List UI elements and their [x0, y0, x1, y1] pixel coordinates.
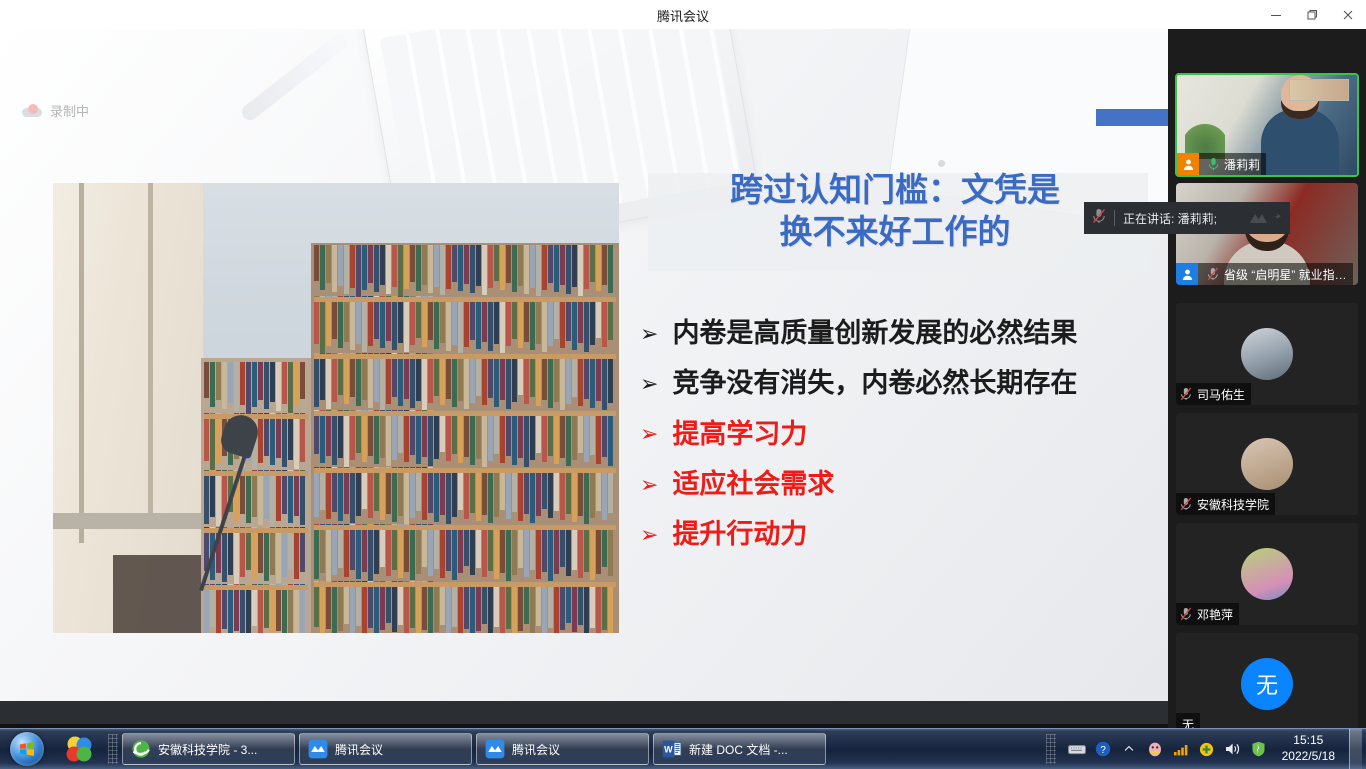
- avatar: 无: [1241, 658, 1293, 710]
- webcam-wall-map: [1289, 79, 1349, 101]
- svg-text:W: W: [664, 745, 673, 755]
- slide-bullet-text: 提高学习力: [672, 420, 807, 448]
- bookshelf-row: [314, 302, 616, 359]
- tencent-meeting-icon: [308, 739, 328, 759]
- taskbar-button[interactable]: 安徽科技学院 - 3...: [122, 733, 295, 765]
- microphone-muted-icon: [1176, 607, 1192, 621]
- bullet-marker-icon: ➢: [640, 422, 658, 445]
- microphone-muted-icon: [1203, 267, 1219, 281]
- slide-bullet: ➢适应社会需求: [640, 470, 1160, 498]
- participant-video-panel[interactable]: 潘莉莉省级 “启明星” 就业指…司马佑生安徽科技学院邓艳萍无无: [1168, 29, 1366, 768]
- slide-title-line2: 换不来好工作的: [660, 211, 1130, 253]
- tray-grip[interactable]: [1046, 734, 1056, 764]
- user-badge-icon: [1176, 263, 1198, 285]
- cloud-record-icon: [22, 104, 42, 117]
- slide-bullet: ➢内卷是高质量创新发展的必然结果: [640, 319, 1160, 347]
- recording-label: 录制中: [50, 101, 89, 120]
- windows-taskbar[interactable]: 安徽科技学院 - 3...腾讯会议腾讯会议W新建 DOC 文档 -... ?: [0, 728, 1366, 769]
- taskbar-button-label: 安徽科技学院 - 3...: [158, 741, 257, 758]
- minimize-icon[interactable]: [1258, 0, 1294, 29]
- recording-indicator: 录制中: [22, 101, 89, 120]
- window-title-bar: 腾讯会议: [0, 0, 1366, 29]
- participant-label: 潘莉莉: [1177, 153, 1266, 175]
- toast-divider: [1114, 210, 1115, 226]
- slide-bullet-text: 适应社会需求: [672, 470, 834, 498]
- participant-name: 潘莉莉: [1224, 156, 1260, 173]
- avatar: [1241, 328, 1293, 380]
- quick-launch-qq-icon[interactable]: [54, 729, 104, 769]
- taskbar-button-label: 新建 DOC 文档 -...: [689, 741, 788, 758]
- slide-accent-bar: [1096, 109, 1168, 126]
- taskbar-clock[interactable]: 15:15 2022/5/18: [1276, 733, 1341, 764]
- slide-bullet-text: 竞争没有消失，内卷必然长期存在: [672, 369, 1077, 397]
- qq-icon[interactable]: [1146, 740, 1164, 758]
- bookshelf-row: [314, 416, 616, 473]
- slide-bullet: ➢提高学习力: [640, 420, 1160, 448]
- chevron-up-icon[interactable]: [1120, 740, 1138, 758]
- bookshelf-row: [314, 587, 616, 633]
- window-controls: [1258, 0, 1366, 29]
- volume-icon[interactable]: [1224, 740, 1242, 758]
- slide-background-pen: [239, 31, 351, 124]
- slide-background-dot: [938, 160, 945, 167]
- taskbar-button[interactable]: 腾讯会议: [299, 733, 472, 765]
- slide-bullet: ➢提升行动力: [640, 520, 1160, 548]
- bookshelf-row: [314, 473, 616, 530]
- participant-name: 邓艳萍: [1197, 606, 1233, 623]
- bookshelf-row: [314, 245, 616, 302]
- participant-label: 邓艳萍: [1176, 603, 1239, 625]
- bookshelf-row: [204, 590, 308, 633]
- avatar: [1241, 438, 1293, 490]
- taskbar-button-label: 腾讯会议: [335, 741, 383, 758]
- speaking-text: 正在讲话: 潘莉莉;: [1123, 210, 1217, 227]
- svg-text:?: ?: [1100, 745, 1106, 756]
- tencent-meeting-logo-icon: [1248, 210, 1282, 226]
- slide-bullet-text: 内卷是高质量创新发展的必然结果: [672, 319, 1077, 347]
- microphone-icon: [1204, 157, 1219, 171]
- participant-tile[interactable]: 潘莉莉: [1175, 73, 1359, 177]
- bookshelf-row: [204, 533, 308, 590]
- start-button[interactable]: [0, 729, 54, 769]
- taskbar-button-label: 腾讯会议: [512, 741, 560, 758]
- show-desktop-button[interactable]: [1349, 729, 1362, 769]
- taskbar-button[interactable]: W新建 DOC 文档 -...: [653, 733, 826, 765]
- participant-name: 省级 “启明星” 就业指…: [1224, 266, 1347, 283]
- bookshelf-row: [314, 359, 616, 416]
- bullet-marker-icon: ➢: [640, 473, 658, 496]
- bullet-marker-icon: ➢: [640, 523, 658, 546]
- update-icon[interactable]: [1198, 740, 1216, 758]
- windows-logo-icon: [10, 732, 44, 766]
- avatar: [1241, 548, 1293, 600]
- participant-label: 省级 “启明星” 就业指…: [1176, 263, 1353, 285]
- keyboard-icon[interactable]: [1068, 740, 1086, 758]
- microphone-muted-icon: [1176, 387, 1192, 401]
- participant-tile[interactable]: 省级 “启明星” 就业指…: [1176, 183, 1358, 285]
- bookshelf-row: [204, 362, 308, 419]
- close-icon[interactable]: [1330, 0, 1366, 29]
- bookshelf-row: [314, 530, 616, 587]
- participant-label: 司马佑生: [1176, 383, 1251, 405]
- internet-explorer-icon: [131, 739, 151, 759]
- participant-tile[interactable]: 司马佑生: [1176, 303, 1358, 405]
- tencent-meeting-window: 腾讯会议 录制中: [0, 0, 1366, 768]
- window-title: 腾讯会议: [0, 6, 1366, 25]
- meeting-body: 录制中 跨过认知门槛：文凭是 换不来好工作的: [0, 29, 1366, 768]
- system-tray[interactable]: ? 15:15 2022/5/18: [1042, 729, 1366, 769]
- word-icon: W: [662, 739, 682, 759]
- remote-desktop[interactable]: 录制中 跨过认知门槛：文凭是 换不来好工作的: [0, 29, 1168, 701]
- slide-bullet-text: 提升行动力: [672, 520, 807, 548]
- maximize-icon[interactable]: [1294, 0, 1330, 29]
- taskbar-grip[interactable]: [108, 734, 118, 764]
- microphone-muted-icon: [1176, 497, 1192, 511]
- tencent-meeting-icon: [485, 739, 505, 759]
- speaking-toast: 正在讲话: 潘莉莉;: [1084, 202, 1290, 234]
- participant-name: 安徽科技学院: [1197, 496, 1269, 513]
- slide-bullet: ➢竞争没有消失，内卷必然长期存在: [640, 369, 1160, 397]
- help-icon[interactable]: ?: [1094, 740, 1112, 758]
- security-shield-icon[interactable]: [1250, 740, 1268, 758]
- bullet-marker-icon: ➢: [640, 322, 658, 345]
- slide-title-line1: 跨过认知门槛：文凭是: [730, 171, 1060, 208]
- slide-title: 跨过认知门槛：文凭是 换不来好工作的: [660, 169, 1130, 253]
- participant-tile[interactable]: 邓艳萍: [1176, 523, 1358, 625]
- slide-bullet-list: ➢内卷是高质量创新发展的必然结果➢竞争没有消失，内卷必然长期存在➢提高学习力➢适…: [640, 319, 1160, 571]
- slide-photo-library: [53, 183, 619, 633]
- bullet-marker-icon: ➢: [640, 372, 658, 395]
- participant-label: 安徽科技学院: [1176, 493, 1275, 515]
- shared-screen-area[interactable]: 录制中 跨过认知门槛：文凭是 换不来好工作的: [0, 29, 1168, 724]
- network-signal-icon[interactable]: [1172, 740, 1190, 758]
- taskbar-button[interactable]: 腾讯会议: [476, 733, 649, 765]
- host-badge-icon: [1177, 153, 1199, 175]
- taskbar-clock-date: 2022/5/18: [1282, 749, 1335, 763]
- microphone-muted-icon: [1092, 208, 1106, 229]
- participant-name: 司马佑生: [1197, 386, 1245, 403]
- participant-tile[interactable]: 无无: [1176, 633, 1358, 735]
- participant-tile[interactable]: 安徽科技学院: [1176, 413, 1358, 515]
- participant-webcam-person: [1261, 109, 1339, 175]
- taskbar-clock-time: 15:15: [1293, 733, 1323, 747]
